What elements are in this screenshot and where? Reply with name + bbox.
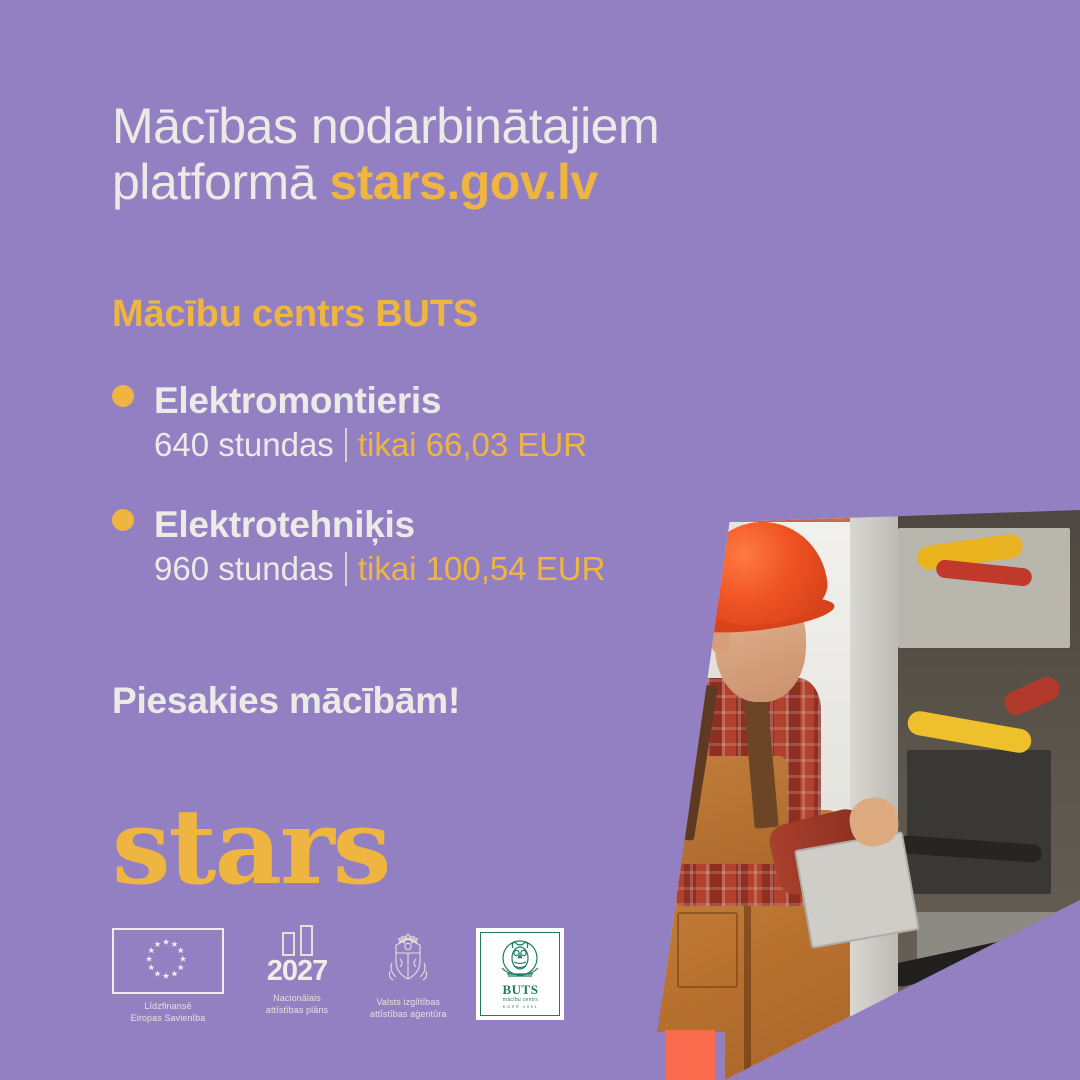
logo-buts: BUTS mācību centrs KOPŠ 1991 (476, 928, 564, 1020)
coral-accent-block (665, 1030, 715, 1080)
logo-eu-cofunded: Līdzfinansē Eiropas Savienība (112, 928, 224, 1024)
coat-of-arms-icon (375, 928, 441, 990)
meta-divider (345, 428, 347, 462)
buts-frame: BUTS mācību centrs KOPŠ 1991 (480, 932, 560, 1016)
coat-of-arms-svg (378, 929, 438, 989)
eu-stars-svg (114, 930, 218, 988)
list-item: Elektrotehniķis 960 stundas tikai 100,54… (112, 504, 752, 588)
course-meta-row: 640 stundas tikai 66,03 EUR (154, 426, 752, 464)
logo-caption: Valsts izglītības attīstības aģentūra (370, 996, 446, 1020)
course-meta-row: 960 stundas tikai 100,54 EUR (154, 550, 752, 588)
page-title: Mācības nodarbinātajiem platformā stars.… (112, 100, 812, 212)
course-price: tikai 100,54 EUR (358, 550, 606, 588)
logo-national-development-plan: 2027 Nacionālais attīstības plāns (254, 928, 340, 1016)
course-title-row: Elektrotehniķis (112, 504, 752, 546)
logo-caption: Līdzfinansē Eiropas Savienība (131, 1000, 206, 1024)
list-item: Elektromontieris 640 stundas tikai 66,03… (112, 380, 752, 464)
buts-name: BUTS (502, 983, 538, 996)
course-name: Elektrotehniķis (154, 504, 415, 546)
nap-bars-icon (282, 928, 313, 956)
buts-subtitle: mācību centrs (503, 997, 538, 1004)
subheading-training-centre: Mācību centrs BUTS (112, 293, 478, 336)
photo-overalls-pocket (677, 912, 739, 988)
course-list: Elektromontieris 640 stundas tikai 66,03… (112, 380, 752, 628)
nap-year: 2027 (267, 957, 328, 986)
course-hours: 960 stundas (154, 550, 334, 588)
meta-divider (345, 552, 347, 586)
content-column: Mācības nodarbinātajiem platformā stars.… (112, 0, 672, 1080)
course-name: Elektromontieris (154, 380, 441, 422)
call-to-action-text: Piesakies mācībām! (112, 680, 460, 722)
owl-icon (494, 938, 546, 982)
stars-wordmark: stars (112, 795, 389, 899)
course-hours: 640 stundas (154, 426, 334, 464)
bullet-dot-icon (112, 509, 134, 531)
eu-flag-icon (112, 928, 224, 994)
headline-prefix: platformā (112, 154, 329, 210)
course-title-row: Elektromontieris (112, 380, 752, 422)
logo-caption: Nacionālais attīstības plāns (266, 992, 328, 1016)
logo-viaa: Valsts izglītības attīstības aģentūra (370, 928, 446, 1020)
headline-platform-url: stars.gov.lv (329, 154, 597, 210)
headline-line-1: Mācības nodarbinātajiem (112, 100, 812, 153)
course-price: tikai 66,03 EUR (358, 426, 587, 464)
photo-breaker-block-mid (907, 750, 1051, 894)
headline-line-2: platformā stars.gov.lv (112, 153, 812, 212)
photo-cabinet-door (850, 492, 898, 1068)
footer-logo-row: Līdzfinansē Eiropas Savienība 2027 Nacio… (112, 928, 564, 1024)
eu-stars-circle (114, 930, 222, 992)
photo-wire-blue (945, 974, 1023, 1010)
photo-clipboard (794, 831, 919, 949)
bullet-dot-icon (112, 385, 134, 407)
buts-established: KOPŠ 1991 (503, 1005, 539, 1010)
poster-canvas: Mācības nodarbinātajiem platformā stars.… (0, 0, 1080, 1080)
